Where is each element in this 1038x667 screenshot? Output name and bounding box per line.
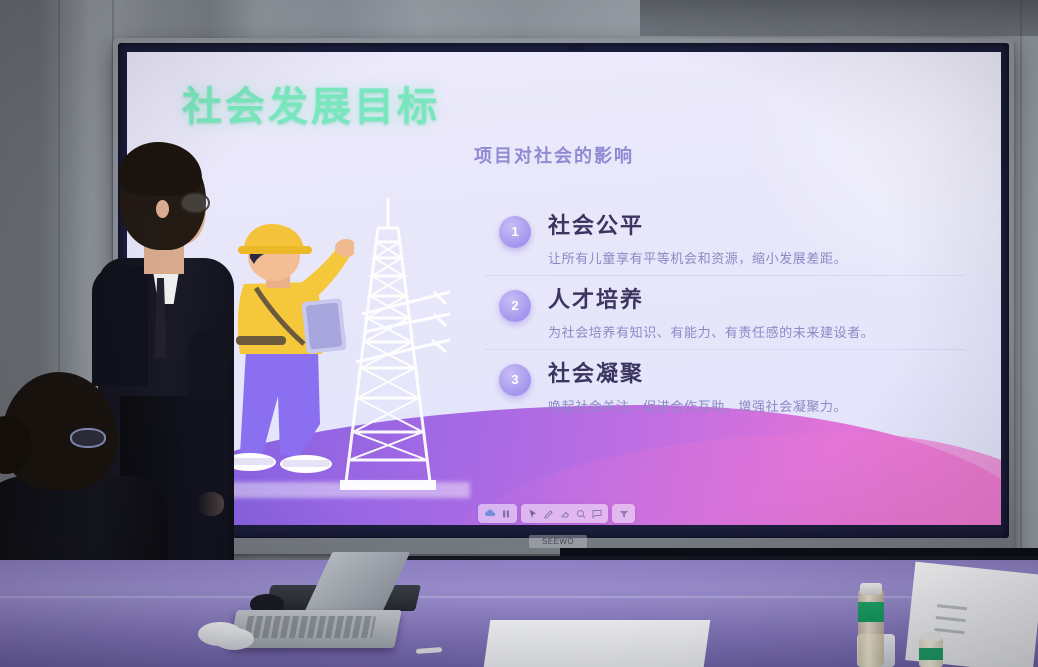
bottle-cap-small[interactable] <box>921 632 941 641</box>
presenter-hair-front <box>118 142 202 196</box>
item-number-badge: 2 <box>499 290 531 322</box>
impact-list: 1 社会公平 让所有儿童享有平等机会和资源，缩小发展差距。 2 人才培养 为社会… <box>485 202 965 424</box>
item-number-badge: 1 <box>499 216 531 248</box>
magnifier-icon[interactable] <box>574 507 587 520</box>
more-icon[interactable] <box>617 507 630 520</box>
presentation-room-scene: SEEWO 社会发展目标 项目对社会的影响 <box>0 0 1038 667</box>
paper-text-line <box>937 604 967 610</box>
attendee-glasses <box>70 428 106 448</box>
toolbar-group-more <box>612 504 635 523</box>
presenter-glasses <box>180 192 210 214</box>
mouse-white-secondary[interactable] <box>214 628 254 650</box>
display-brand-logo: SEEWO <box>529 535 587 548</box>
annotation-toolbar[interactable] <box>478 504 635 523</box>
pause-icon[interactable] <box>499 507 512 520</box>
water-bottle[interactable] <box>858 589 884 667</box>
ceiling-panel <box>640 0 1038 36</box>
camera-icon <box>569 43 582 50</box>
paper-text-line <box>936 616 966 622</box>
cursor-icon[interactable] <box>526 507 539 520</box>
presenter-shoulder <box>92 266 148 386</box>
slide-illustration <box>222 200 452 490</box>
paper-document-front[interactable] <box>484 620 711 667</box>
laptop-keyboard[interactable] <box>244 616 376 638</box>
cloud-icon[interactable] <box>483 507 496 520</box>
list-item[interactable]: 1 社会公平 让所有儿童享有平等机会和资源，缩小发展差距。 <box>485 202 965 276</box>
list-item[interactable]: 3 社会凝聚 唤起社会关注，促进合作互助，增强社会凝聚力。 <box>485 350 965 424</box>
slide-subtitle: 项目对社会的影响 <box>474 142 634 168</box>
eraser-icon[interactable] <box>558 507 571 520</box>
bottle-label <box>858 602 884 622</box>
slide-title: 社会发展目标 <box>182 74 440 132</box>
item-description: 让所有儿童享有平等机会和资源，缩小发展差距。 <box>548 240 965 267</box>
bottle-cap[interactable] <box>860 583 882 595</box>
item-description: 唤起社会关注，促进合作互助，增强社会凝聚力。 <box>548 388 965 415</box>
item-number-badge: 3 <box>499 364 531 396</box>
wall-seam <box>1020 0 1022 600</box>
list-item[interactable]: 2 人才培养 为社会培养有知识、有能力、有责任感的未来建设者。 <box>485 276 965 350</box>
toolbar-group-tools <box>521 504 608 523</box>
presentation-slide[interactable]: 社会发展目标 项目对社会的影响 <box>127 52 1001 525</box>
item-heading: 社会公平 <box>548 202 965 240</box>
item-heading: 人才培养 <box>548 276 965 314</box>
presenter-ear <box>156 200 169 218</box>
comment-icon[interactable] <box>590 507 603 520</box>
bottle-label-small <box>919 648 943 660</box>
pen-icon[interactable] <box>542 507 555 520</box>
item-heading: 社会凝聚 <box>548 350 965 388</box>
toolbar-group-playback <box>478 504 517 523</box>
item-description: 为社会培养有知识、有能力、有责任感的未来建设者。 <box>548 314 965 341</box>
